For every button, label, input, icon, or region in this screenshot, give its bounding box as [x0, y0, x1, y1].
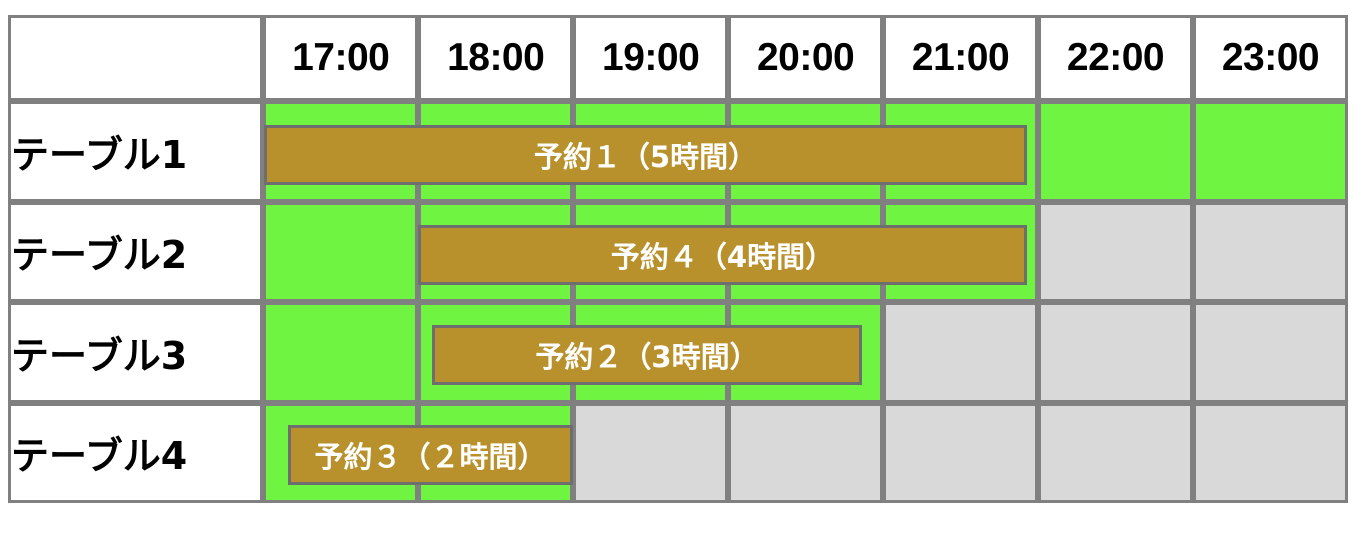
row-label-table3: テーブル3: [8, 302, 263, 403]
slot-table4-2300[interactable]: [1193, 403, 1348, 504]
slot-table3-1700[interactable]: [263, 302, 418, 403]
reservation-bar-1[interactable]: 予約１（5時間）: [264, 125, 1027, 185]
slot-table1-2300[interactable]: [1193, 101, 1348, 202]
time-header-2000: 20:00: [728, 15, 883, 101]
slot-table1-2200[interactable]: [1038, 101, 1193, 202]
reservation-bar-2[interactable]: 予約２（3時間）: [432, 325, 862, 385]
slot-table4-2100[interactable]: [883, 403, 1038, 504]
table-row: テーブル4: [8, 403, 1348, 504]
slot-table2-2200[interactable]: [1038, 202, 1193, 303]
slot-table3-2200[interactable]: [1038, 302, 1193, 403]
time-header-2300: 23:00: [1193, 15, 1348, 101]
row-label-table4: テーブル4: [8, 403, 263, 504]
row-label-table1: テーブル1: [8, 101, 263, 202]
time-header-1800: 18:00: [418, 15, 573, 101]
time-header-1700: 17:00: [263, 15, 418, 101]
time-header-2200: 22:00: [1038, 15, 1193, 101]
slot-table3-2300[interactable]: [1193, 302, 1348, 403]
slot-table4-1900[interactable]: [573, 403, 728, 504]
slot-table2-1700[interactable]: [263, 202, 418, 303]
time-header-2100: 21:00: [883, 15, 1038, 101]
reservation-bar-3[interactable]: 予約３（２時間）: [288, 425, 573, 485]
slot-table3-2100[interactable]: [883, 302, 1038, 403]
slot-table4-2000[interactable]: [728, 403, 883, 504]
header-row: 17:00 18:00 19:00 20:00 21:00 22:00 23:0…: [8, 15, 1348, 101]
corner-cell: [8, 15, 263, 101]
time-header-1900: 19:00: [573, 15, 728, 101]
reservation-bar-4[interactable]: 予約４（4時間）: [418, 225, 1027, 285]
slot-table4-2200[interactable]: [1038, 403, 1193, 504]
row-label-table2: テーブル2: [8, 202, 263, 303]
slot-table2-2300[interactable]: [1193, 202, 1348, 303]
reservation-schedule: 17:00 18:00 19:00 20:00 21:00 22:00 23:0…: [8, 15, 1348, 503]
